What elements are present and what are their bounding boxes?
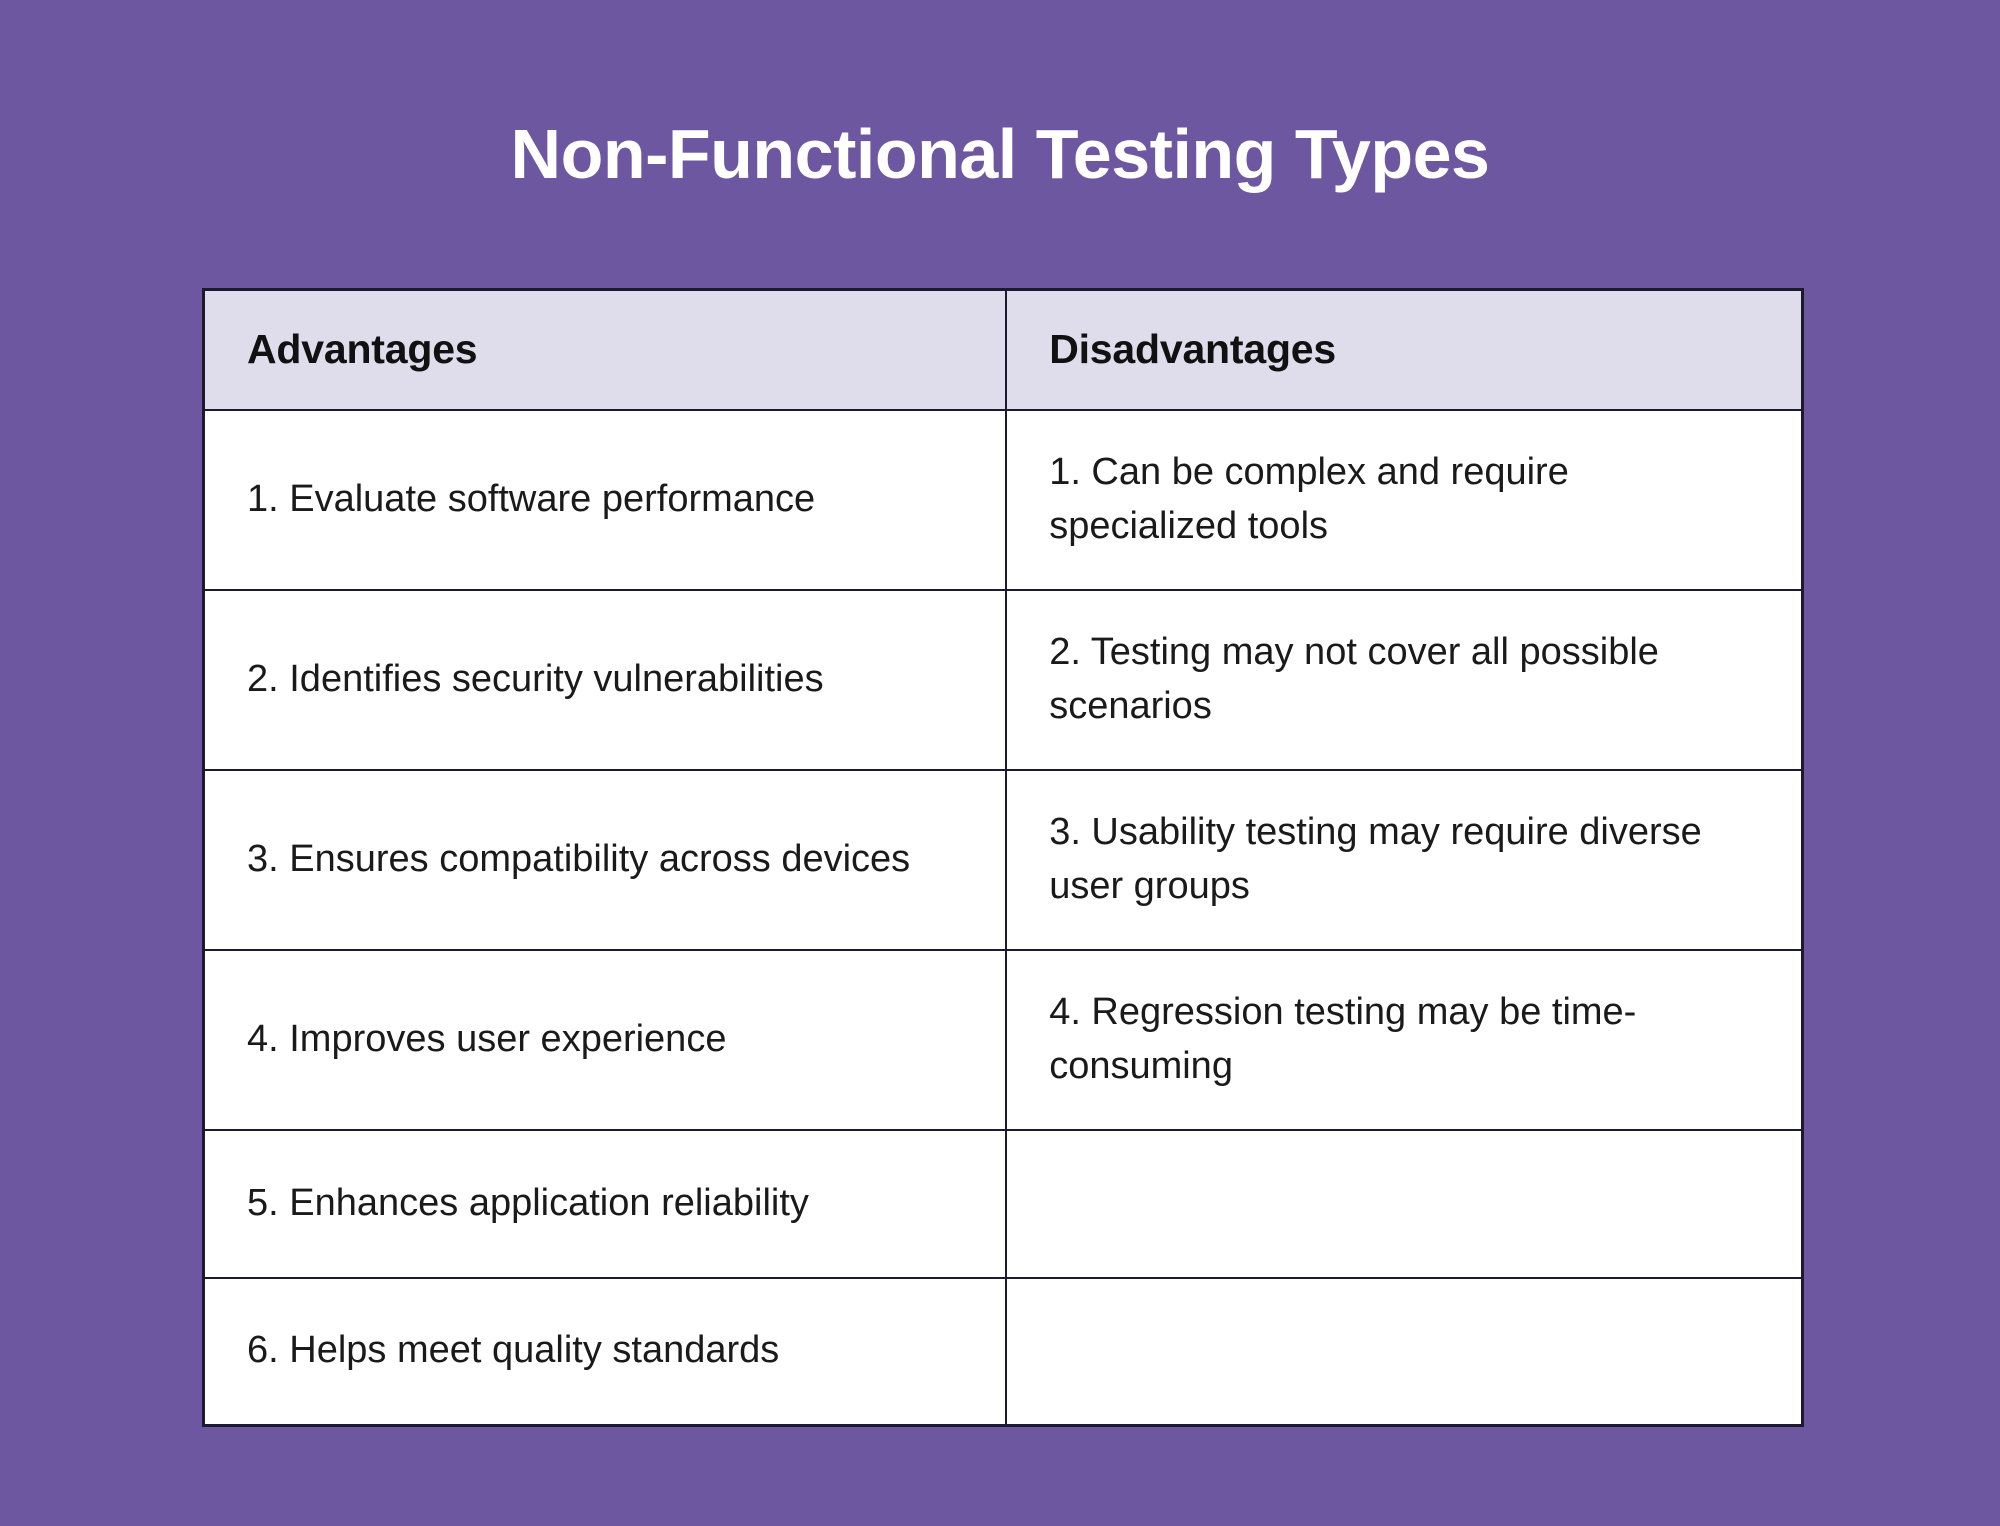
column-header-disadvantages: Disadvantages [1006,290,1802,410]
table-row: 6. Helps meet quality standards [204,1278,1803,1426]
table-row: 2. Identifies security vulnerabilities 2… [204,590,1803,770]
table-row: 1. Evaluate software performance 1. Can … [204,410,1803,590]
disadvantage-cell: 3. Usability testing may require diverse… [1006,770,1802,950]
table-header-row: Advantages Disadvantages [204,290,1803,410]
comparison-table: Advantages Disadvantages 1. Evaluate sof… [202,288,1804,1427]
table-row: 5. Enhances application reliability [204,1130,1803,1278]
advantage-cell: 1. Evaluate software performance [204,410,1007,590]
disadvantage-cell: 1. Can be complex and require specialize… [1006,410,1802,590]
advantage-cell: 5. Enhances application reliability [204,1130,1007,1278]
disadvantage-cell-empty [1006,1130,1802,1278]
column-header-advantages: Advantages [204,290,1007,410]
advantage-cell: 2. Identifies security vulnerabilities [204,590,1007,770]
disadvantage-cell-empty [1006,1278,1802,1426]
page-title: Non-Functional Testing Types [0,118,2000,192]
slide-canvas: Non-Functional Testing Types Advantages … [0,0,2000,1526]
advantage-cell: 4. Improves user experience [204,950,1007,1130]
disadvantage-cell: 4. Regression testing may be time-consum… [1006,950,1802,1130]
table-row: 3. Ensures compatibility across devices … [204,770,1803,950]
advantage-cell: 6. Helps meet quality standards [204,1278,1007,1426]
advantage-cell: 3. Ensures compatibility across devices [204,770,1007,950]
table-body: 1. Evaluate software performance 1. Can … [204,410,1803,1426]
table-header: Advantages Disadvantages [204,290,1803,410]
comparison-table-container: Advantages Disadvantages 1. Evaluate sof… [202,288,1804,1378]
table-row: 4. Improves user experience 4. Regressio… [204,950,1803,1130]
disadvantage-cell: 2. Testing may not cover all possible sc… [1006,590,1802,770]
